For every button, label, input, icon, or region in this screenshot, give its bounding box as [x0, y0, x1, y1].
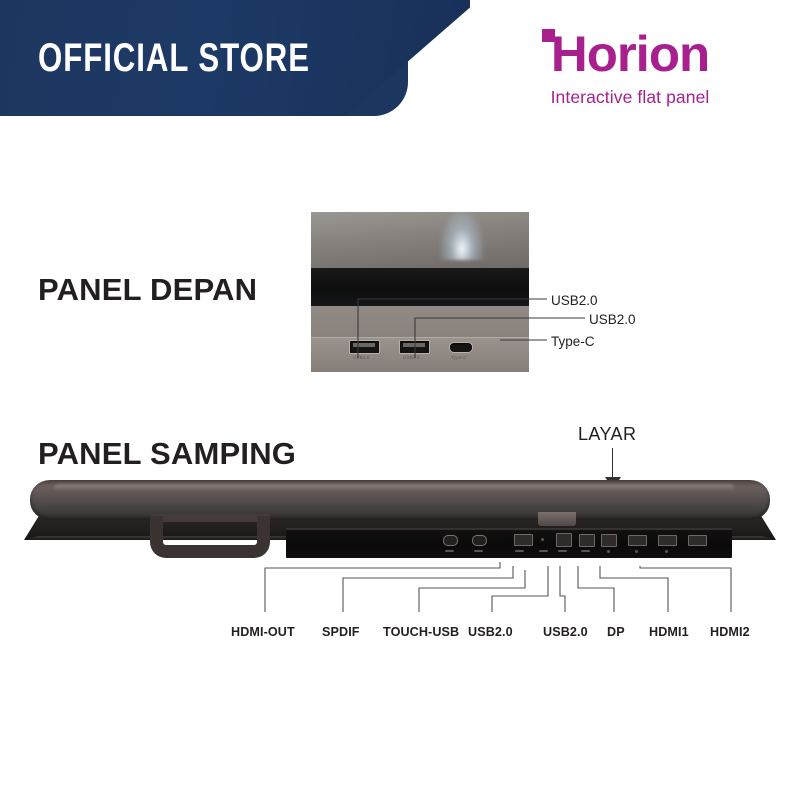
- port-label-hdmi-out: HDMI-OUT: [231, 624, 295, 640]
- front-port-caption-2: USB2.0: [403, 355, 420, 360]
- io-port-usb2-b: [579, 534, 595, 547]
- port-label-touch-usb: TOUCH-USB: [383, 624, 459, 640]
- front-usb-port-2: [399, 340, 430, 354]
- port-label-hdmi1: HDMI1: [649, 624, 689, 640]
- side-panel-bezel-highlight: [54, 484, 734, 491]
- leader-hdmi-out: [265, 562, 500, 612]
- io-port-hdmi2: [658, 535, 677, 546]
- io-port-hdmi1: [628, 535, 647, 546]
- callout-label-front-typec: Type-C: [551, 334, 595, 350]
- leader-hdmi1: [600, 566, 668, 612]
- front-panel-seam: [311, 337, 529, 338]
- front-port-caption-1: USB3.0: [353, 355, 370, 360]
- front-panel-glass-area: [311, 212, 529, 268]
- horion-logo: Horion: [522, 28, 738, 80]
- leader-dp: [578, 566, 614, 612]
- leader-touch-usb: [419, 570, 525, 612]
- header-banner: OFFICIAL STORE Horion Interactive flat p…: [0, 0, 800, 122]
- io-port-hdmi-out: [443, 535, 458, 546]
- brand-tagline: Interactive flat panel: [514, 86, 746, 108]
- io-port-hdmi3: [688, 535, 707, 546]
- front-port-caption-3: Type-C: [451, 355, 467, 360]
- layar-arrow-line: [612, 448, 613, 480]
- callout-label-front-usb-1: USB2.0: [551, 293, 598, 309]
- io-tick-6: [581, 550, 590, 552]
- layar-callout-label: LAYAR: [578, 423, 636, 445]
- front-panel-dark-band: [311, 268, 529, 306]
- io-port-small-jack: [541, 538, 544, 541]
- io-tick-7: [607, 550, 610, 553]
- io-tick-8: [635, 550, 638, 553]
- side-panel-center-notch: [538, 512, 576, 526]
- horion-logo-accent-bar: [542, 29, 555, 42]
- front-typec-port: [449, 342, 473, 353]
- io-tick-2: [474, 550, 483, 552]
- section-heading-panel-depan: PANEL DEPAN: [38, 272, 257, 308]
- io-port-spdif: [472, 535, 487, 546]
- io-port-touch-usb: [514, 534, 533, 546]
- leader-hdmi2: [640, 566, 731, 612]
- port-label-usb2-b: USB2.0: [543, 624, 588, 640]
- section-heading-panel-samping: PANEL SAMPING: [38, 436, 296, 472]
- io-tick-9: [665, 550, 668, 553]
- side-panel-io-strip-highlight: [286, 528, 732, 530]
- io-tick-5: [558, 550, 567, 552]
- port-label-dp: DP: [607, 624, 625, 640]
- leader-spdif: [343, 566, 513, 612]
- side-panel-device-photo: [24, 480, 776, 562]
- io-port-usb2-a: [556, 533, 572, 547]
- io-tick-1: [445, 550, 454, 552]
- io-tick-3: [515, 550, 524, 552]
- official-store-badge: OFFICIAL STORE: [38, 34, 310, 82]
- brand-block: Horion Interactive flat panel: [514, 28, 746, 108]
- leader-usb2-b: [560, 566, 565, 612]
- io-tick-4: [539, 550, 548, 552]
- port-label-usb2-a: USB2.0: [468, 624, 513, 640]
- side-panel-carry-handle: [150, 516, 270, 558]
- front-panel-glare: [439, 212, 485, 260]
- front-panel-mid-band: [311, 306, 529, 338]
- callout-label-front-usb-2: USB2.0: [589, 312, 636, 328]
- leader-usb2-a: [492, 566, 548, 612]
- port-label-spdif: SPDIF: [322, 624, 360, 640]
- front-panel-photo: USB3.0 USB2.0 Type-C: [311, 212, 529, 372]
- port-label-hdmi2: HDMI2: [710, 624, 750, 640]
- front-usb-port-1: [349, 340, 380, 354]
- io-port-dp: [601, 534, 617, 547]
